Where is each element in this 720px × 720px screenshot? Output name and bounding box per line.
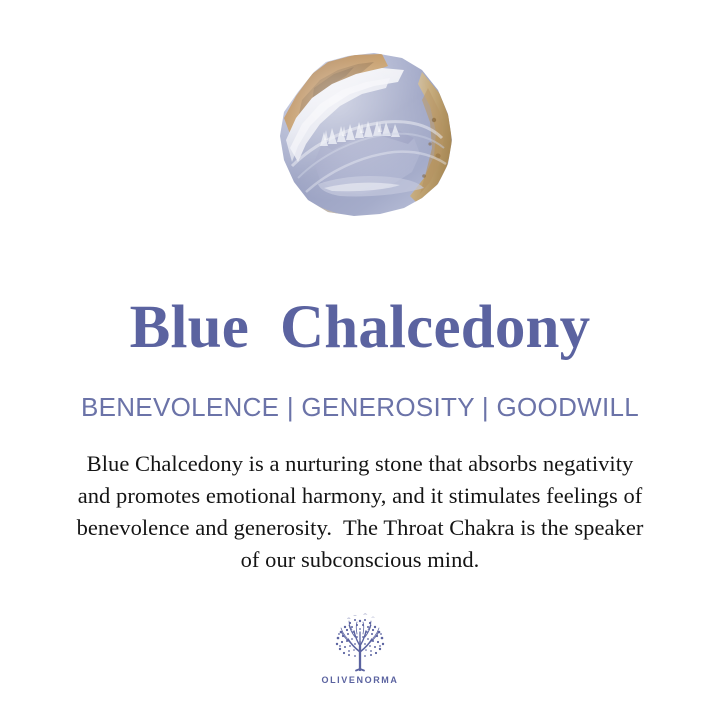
description-line: and promotes emotional harmony, and it s…: [18, 480, 702, 512]
hero-image-area: [0, 30, 720, 245]
description-line: benevolence and generosity. The Throat C…: [18, 512, 702, 544]
keyword-tagline: BENEVOLENCE | GENEROSITY | GOODWILL: [0, 392, 720, 423]
blue-chalcedony-stone-image: [262, 48, 458, 228]
description-paragraph: Blue Chalcedony is a nurturing stone tha…: [18, 448, 702, 576]
brand-logo: OLIVENORMA: [0, 612, 720, 685]
olive-tree-icon: [327, 612, 393, 674]
page-title: Blue Chalcedony: [0, 296, 720, 360]
brand-name: OLIVENORMA: [321, 676, 398, 685]
description-line: of our subconscious mind.: [18, 544, 702, 576]
description-line: Blue Chalcedony is a nurturing stone tha…: [18, 448, 702, 480]
product-info-card: Blue Chalcedony BENEVOLENCE | GENEROSITY…: [0, 0, 720, 720]
